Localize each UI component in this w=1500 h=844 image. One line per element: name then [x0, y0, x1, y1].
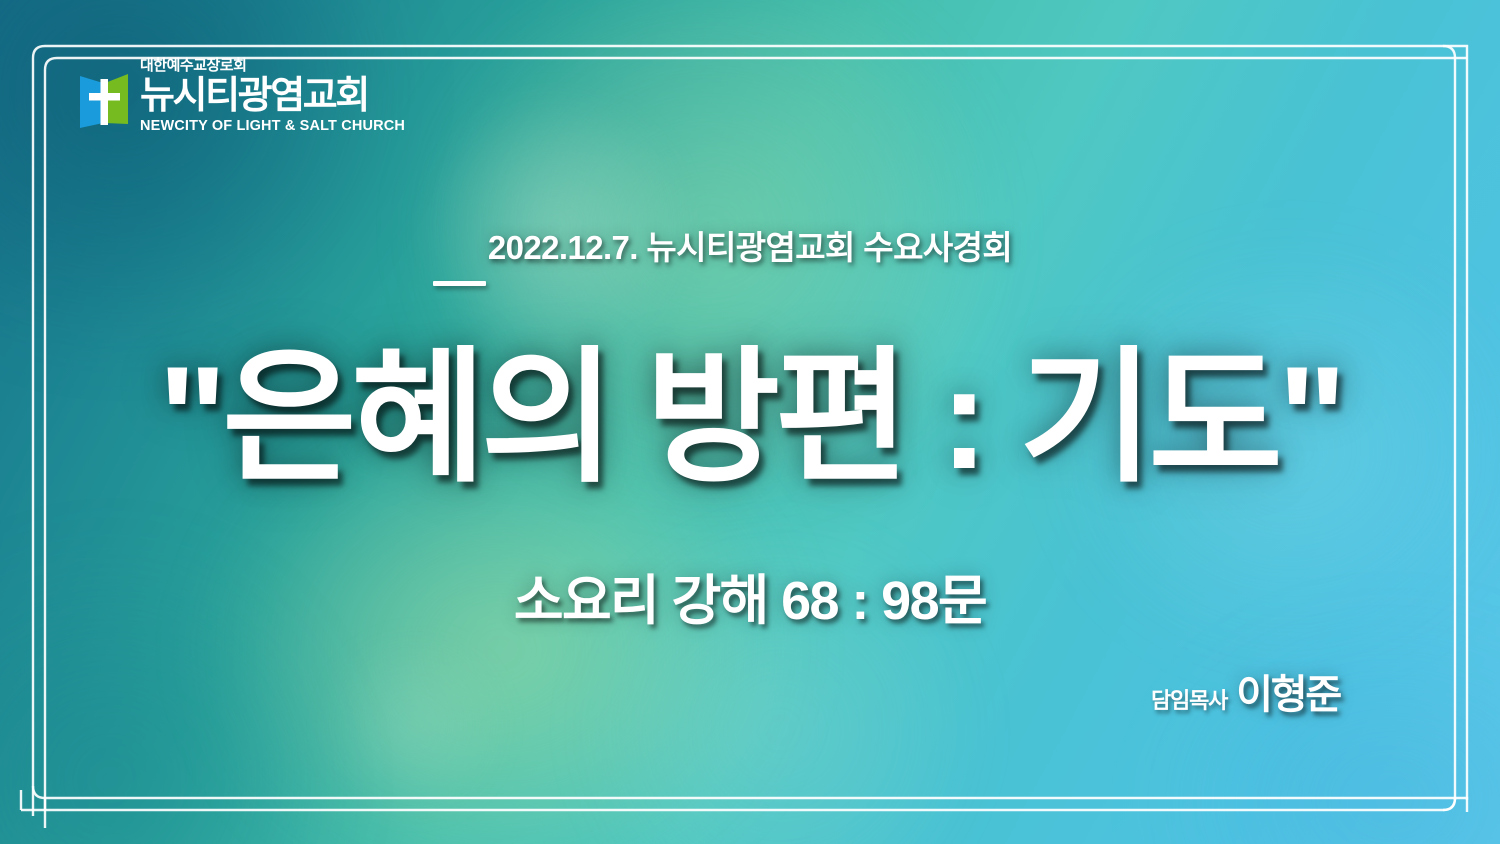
sermon-title-slide: 대한예수교장로회 뉴시티광염교회 NEWCITY OF LIGHT & SALT… — [0, 0, 1500, 844]
speaker-role: 담임목사 — [1151, 683, 1227, 715]
sermon-subtitle: 소요리 강해 68 : 98문 — [0, 556, 1500, 635]
slide-content: 2022.12.7. 뉴시티광염교회 수요사경회 "은혜의 방편 : 기도" 소… — [0, 0, 1500, 844]
sermon-title: "은혜의 방편 : 기도" — [0, 345, 1500, 491]
speaker-credit: 담임목사 이형준 — [1151, 662, 1340, 720]
title-divider — [433, 281, 486, 286]
speaker-name: 이형준 — [1236, 662, 1340, 720]
event-line: 2022.12.7. 뉴시티광염교회 수요사경회 — [0, 221, 1500, 269]
